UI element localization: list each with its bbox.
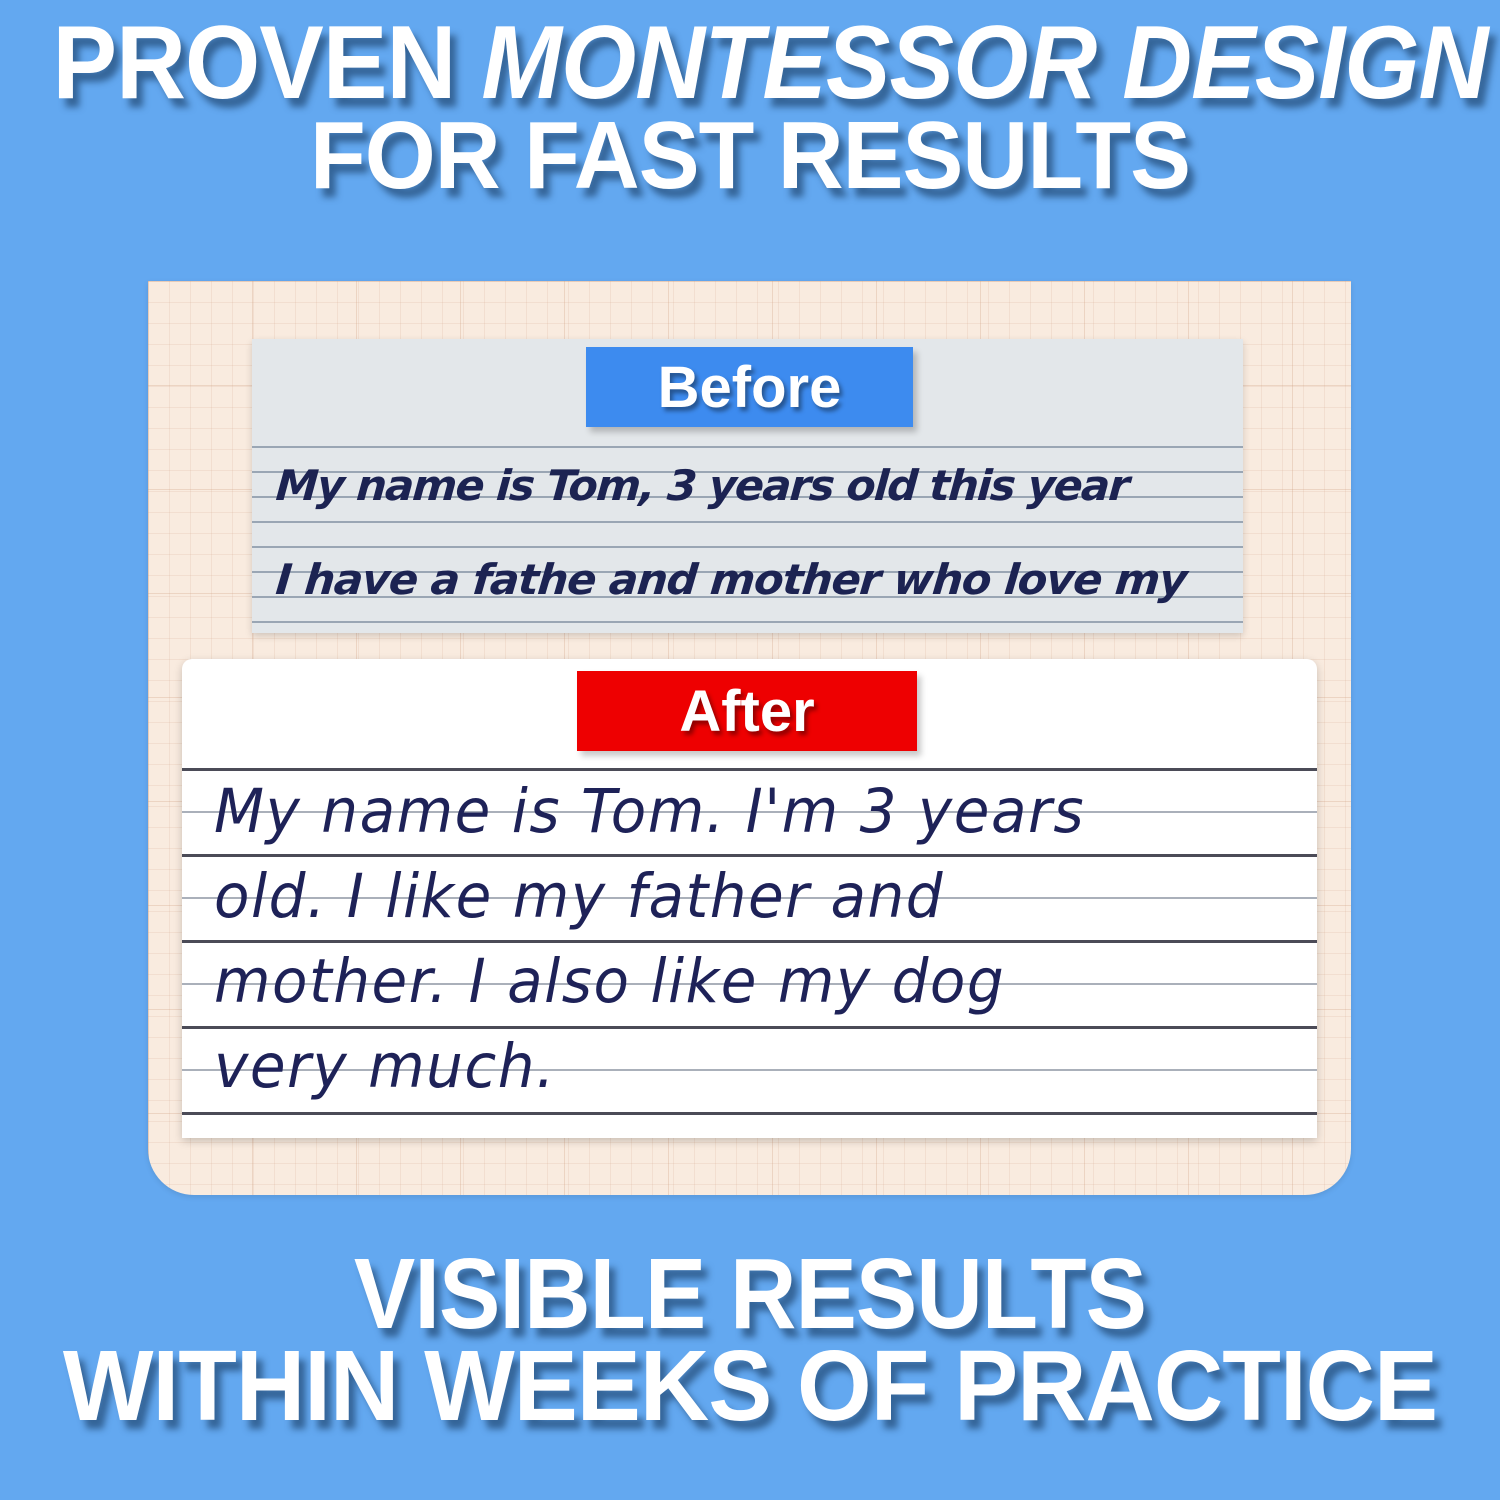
after-handwriting-line-2: old. I like my father and [214, 860, 944, 931]
before-handwriting-line-2: I have a fathe and mother who love my [274, 555, 1243, 604]
after-handwriting-line-4: very much. [214, 1030, 556, 1101]
after-badge: After [577, 671, 917, 751]
headline-top-line-2: FOR FAST RESULTS [38, 112, 1463, 200]
headline-top-line-1: PROVEN MONTESSOR DESIGN [53, 16, 1448, 112]
headline-bottom-line-2: WITHIN WEEKS OF PRACTICE [30, 1340, 1470, 1432]
before-handwriting-line-1: My name is Tom, 3 years old this year [274, 461, 1243, 510]
after-handwriting-line-1: My name is Tom. I'm 3 years [214, 775, 1085, 846]
before-badge: Before [586, 347, 913, 427]
headline-bottom: VISIBLE RESULTS WITHIN WEEKS OF PRACTICE [0, 1248, 1500, 1432]
headline-bottom-line-1: VISIBLE RESULTS [60, 1248, 1440, 1340]
after-handwriting-line-3: mother. I also like my dog [214, 945, 1005, 1016]
headline-top: PROVEN MONTESSOR DESIGN FOR FAST RESULTS [0, 16, 1500, 200]
